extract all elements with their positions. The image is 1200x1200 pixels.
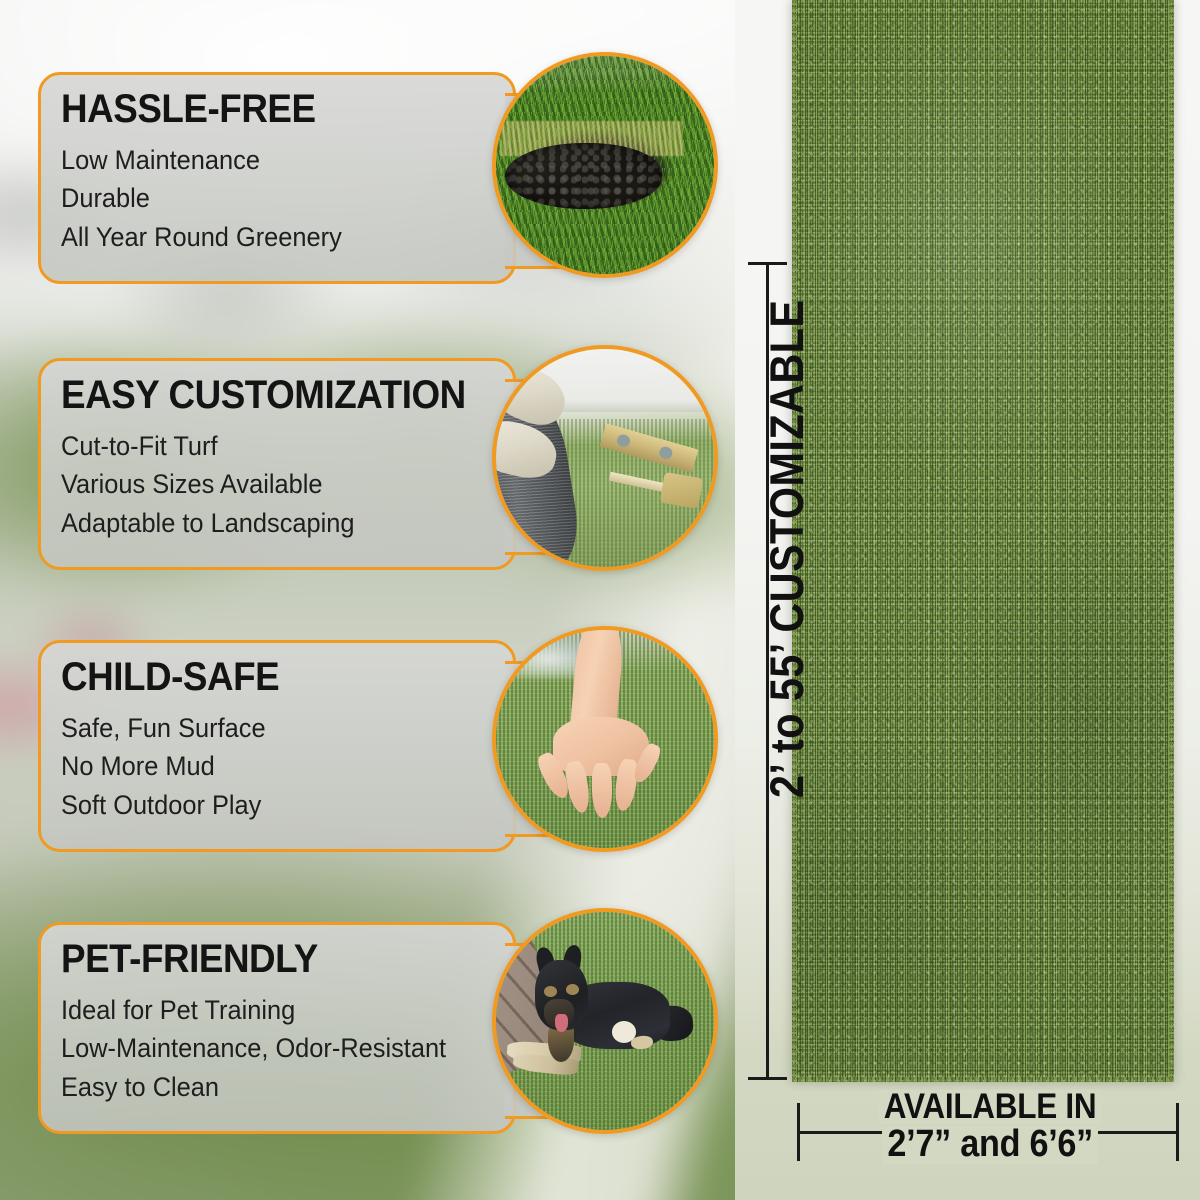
photo-3-finger [591, 763, 612, 818]
card-title: HASSLE-FREE [61, 89, 477, 129]
turf-right-frayed-edge [1169, 0, 1174, 1082]
turf-bottom-frayed-edge [792, 1077, 1174, 1082]
horizontal-width-measurement: AVAILABLE IN 2’7” and 6’6” [780, 1090, 1200, 1200]
turf-lighting-layer [792, 0, 1174, 1082]
card-title: EASY CUSTOMIZATION [61, 375, 477, 415]
card-bullet-list: Safe, Fun Surface No More Mud Soft Outdo… [61, 709, 513, 824]
child-hand-on-turf-photo [492, 626, 718, 852]
photo-4-dog-tongue [555, 1014, 568, 1031]
available-widths-caption: AVAILABLE IN 2’7” and 6’6” [780, 1090, 1200, 1164]
photo-4-dog-eye-marking [544, 986, 557, 997]
card-text-hassle-free: HASSLE-FREE Low Maintenance Durable All … [41, 75, 513, 256]
vertical-measurement-label: 2’ to 55’ CUSTOMIZABLE [757, 239, 815, 859]
feature-card-hassle-free: HASSLE-FREE Low Maintenance Durable All … [38, 72, 516, 284]
card-bullet-line: Ideal for Pet Training [61, 991, 486, 1029]
card-bullet-line: Soft Outdoor Play [61, 786, 486, 824]
card-bullet-list: Low Maintenance Durable All Year Round G… [61, 141, 513, 256]
feature-card-easy-customization: EASY CUSTOMIZATION Cut-to-Fit Turf Vario… [38, 358, 516, 570]
card-text-pet-friendly: PET-FRIENDLY Ideal for Pet Training Low-… [41, 925, 513, 1106]
card-bullet-line: Adaptable to Landscaping [61, 504, 486, 542]
vertical-length-measurement: 2’ to 55’ CUSTOMIZABLE [716, 0, 796, 1200]
card-bullet-line: No More Mud [61, 747, 486, 785]
gloved-hands-installing-turf-photo [492, 345, 718, 571]
photo-1-scene [496, 56, 714, 274]
infographic-canvas: HASSLE-FREE Low Maintenance Durable All … [0, 0, 1200, 1200]
caption-line-2: 2’7” and 6’6” [780, 1126, 1200, 1163]
photo-4-scene [496, 912, 714, 1130]
card-bullet-line: All Year Round Greenery [61, 218, 486, 256]
rolled-turf-with-backing-photo [492, 52, 718, 278]
measurement-bottom-cap [748, 1077, 787, 1080]
vertical-measurement-text: 2’ to 55’ CUSTOMIZABLE [759, 300, 814, 798]
dog-lying-on-turf-photo [492, 908, 718, 1134]
feature-card-child-safe: CHILD-SAFE Safe, Fun Surface No More Mud… [38, 640, 516, 852]
photo-2-scene [496, 349, 714, 567]
caption-line-1-text: AVAILABLE IN [878, 1090, 1101, 1124]
photo-3-scene [496, 630, 714, 848]
card-bullet-line: Low Maintenance [61, 141, 486, 179]
card-bullet-line: Cut-to-Fit Turf [61, 427, 486, 465]
photo-1-black-backing [505, 143, 662, 208]
photo-4-dog-eye-marking [566, 984, 579, 995]
card-title: CHILD-SAFE [61, 657, 477, 697]
card-bullet-list: Ideal for Pet Training Low-Maintenance, … [61, 991, 513, 1106]
card-bullet-line: Durable [61, 179, 486, 217]
card-bullet-list: Cut-to-Fit Turf Various Sizes Available … [61, 427, 513, 542]
artificial-turf-roll-swatch [792, 0, 1174, 1082]
card-text-easy-customization: EASY CUSTOMIZATION Cut-to-Fit Turf Vario… [41, 361, 513, 542]
caption-line-2-text: 2’7” and 6’6” [882, 1126, 1098, 1163]
feature-card-pet-friendly: PET-FRIENDLY Ideal for Pet Training Low-… [38, 922, 516, 1134]
card-bullet-line: Easy to Clean [61, 1068, 486, 1106]
photo-2-baseboard [553, 399, 718, 412]
caption-line-1: AVAILABLE IN [780, 1090, 1200, 1124]
card-text-child-safe: CHILD-SAFE Safe, Fun Surface No More Mud… [41, 643, 513, 824]
card-bullet-line: Safe, Fun Surface [61, 709, 486, 747]
card-bullet-line: Low-Maintenance, Odor-Resistant [61, 1029, 486, 1067]
card-bullet-line: Various Sizes Available [61, 465, 486, 503]
card-title: PET-FRIENDLY [61, 939, 477, 979]
